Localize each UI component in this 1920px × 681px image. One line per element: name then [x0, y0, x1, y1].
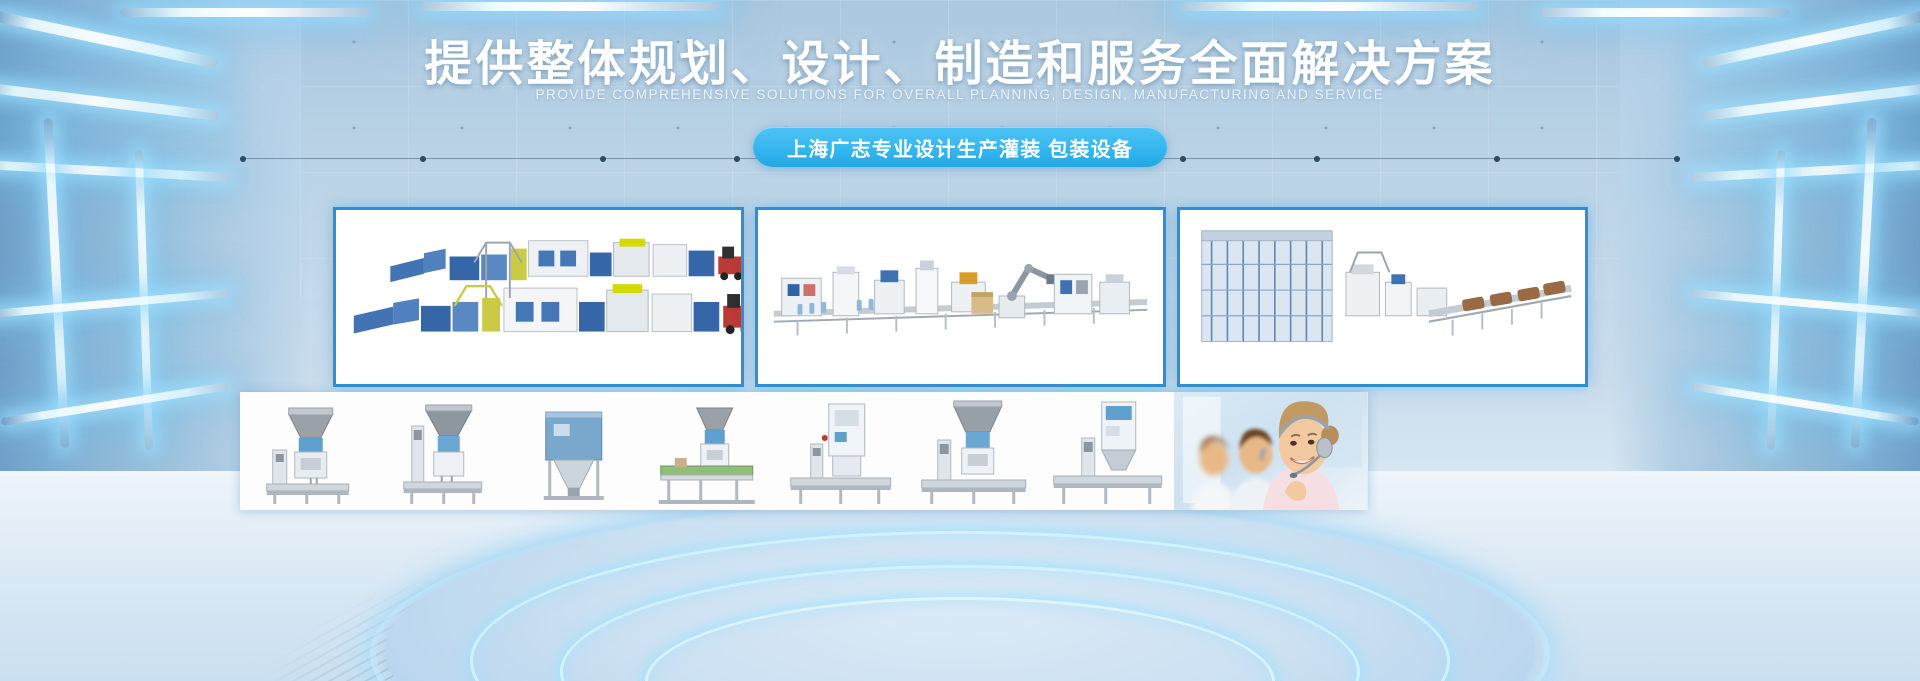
thumb-customer-service-team[interactable] [1174, 392, 1368, 510]
panel-production-line-1[interactable] [333, 207, 744, 387]
panel-image-production-line-3 [1180, 210, 1585, 384]
thumb-granule-weighing-machine[interactable] [373, 392, 506, 510]
thumb-bagging-conveyor-line[interactable] [640, 392, 773, 510]
headline: 提供整体规划、设计、制造和服务全面解决方案 [0, 24, 1920, 94]
connector-node [1180, 156, 1186, 162]
panel-production-line-2[interactable] [755, 207, 1166, 387]
panel-image-production-line-1 [336, 210, 741, 384]
banner-content: 提供整体规划、设计、制造和服务全面解决方案 PROVIDE COMPREHENS… [0, 0, 1920, 681]
thumb-storage-hopper-unit[interactable] [507, 392, 640, 510]
thumb-belt-weigh-feeder[interactable] [1041, 392, 1174, 510]
product-thumbnail-strip [240, 392, 1368, 510]
tagline-pill[interactable]: 上海广志专业设计生产灌装 包装设备 [753, 127, 1167, 167]
connector-node [1674, 156, 1680, 162]
connector-node [1494, 156, 1500, 162]
connector-node [240, 156, 246, 162]
panel-image-production-line-2 [758, 210, 1163, 384]
feature-panel-row [333, 207, 1588, 387]
thumb-dual-head-filling-machine[interactable] [907, 392, 1040, 510]
thumb-valve-bag-packer[interactable] [774, 392, 907, 510]
panel-production-line-3[interactable] [1177, 207, 1588, 387]
connector-node [420, 156, 426, 162]
connector-node [600, 156, 606, 162]
subheadline: PROVIDE COMPREHENSIVE SOLUTIONS FOR OVER… [0, 87, 1920, 102]
customer-service-photo [1174, 392, 1368, 510]
connector-node [1314, 156, 1320, 162]
thumb-powder-filling-machine[interactable] [240, 392, 373, 510]
connector-node [734, 156, 740, 162]
